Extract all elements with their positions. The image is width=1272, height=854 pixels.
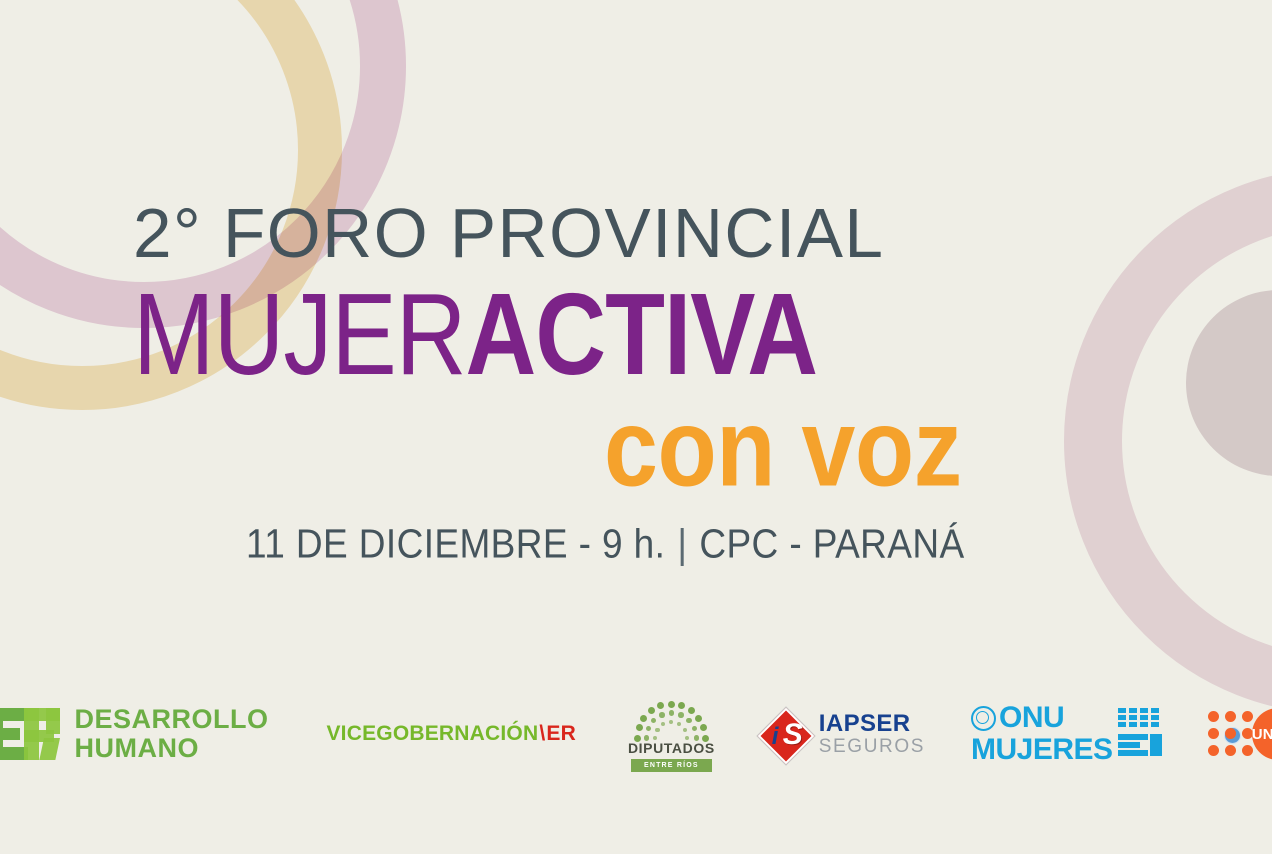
- event-poster: 2° FORO PROVINCIAL MUJERACTIVA con voz 1…: [0, 0, 1272, 854]
- decorative-ring-pink-right: [1064, 168, 1272, 714]
- event-title: MUJERACTIVA: [133, 276, 817, 392]
- event-venue: CPC - PARANÁ: [699, 521, 964, 566]
- unfpa-dot-grid-icon: [1208, 711, 1254, 757]
- iapser-mark-s: S: [783, 720, 803, 750]
- sponsor-logo-unfpa: UNFPA: [1208, 686, 1272, 782]
- iapser-subtitle: SEGUROS: [819, 737, 925, 757]
- unfpa-circle-badge: UNFPA: [1252, 708, 1272, 760]
- event-subtitle: con voz: [604, 392, 962, 503]
- vicegobernacion-suffix: ER: [546, 722, 576, 745]
- sponsor-logo-diputados: DIPUTADOS ENTRE RÍOS: [628, 686, 715, 782]
- details-separator: |: [665, 521, 699, 566]
- event-details: 11 DE DICIEMBRE - 9 h.|CPC - PARANÁ: [246, 521, 965, 567]
- iapser-logo-text: IAPSER SEGUROS: [819, 711, 925, 756]
- sponsor-logo-row: DESARROLLO HUMANO VICEGOBERNACIÓN\ER DIP…: [0, 686, 1272, 782]
- iapser-mark-i: i: [772, 725, 779, 749]
- onu-mujeres-logo-text: ONU MUJERES: [971, 703, 1113, 765]
- un-emblem-icon: [971, 706, 996, 731]
- onu-line1: ONU: [999, 703, 1064, 733]
- event-kicker: 2° FORO PROVINCIAL: [133, 198, 884, 268]
- event-date: 11 DE DICIEMBRE - 9 h.: [246, 521, 665, 566]
- iapser-diamond-icon: i S: [759, 709, 809, 759]
- onu-line2: MUJERES: [971, 735, 1113, 765]
- title-word-mujer: MUJER: [133, 269, 466, 399]
- sponsor-logo-er-desarrollo-humano: DESARROLLO HUMANO: [0, 686, 268, 782]
- sponsor-logo-vicegobernacion: VICEGOBERNACIÓN\ER: [326, 686, 575, 782]
- unfpa-name: UNFPA: [1252, 726, 1272, 743]
- diputados-subtitle: ENTRE RÍOS: [631, 759, 712, 772]
- er-logo-line2: HUMANO: [74, 734, 268, 763]
- er-logo-line1: DESARROLLO: [74, 705, 268, 734]
- diputados-name: DIPUTADOS: [628, 740, 715, 756]
- decorative-disc-mauve-right: [1186, 290, 1272, 476]
- iapser-name: IAPSER: [819, 711, 925, 736]
- sponsor-logo-onu-mujeres: ONU MUJERES: [971, 686, 1164, 782]
- vicegobernacion-logo-text: VICEGOBERNACIÓN\ER: [326, 722, 575, 746]
- er-monogram-icon: [0, 706, 62, 762]
- er-logo-text: DESARROLLO HUMANO: [74, 705, 268, 763]
- diputados-arch-icon: [628, 696, 714, 738]
- title-word-activa: ACTIVA: [466, 269, 818, 399]
- vicegobernacion-name: VICEGOBERNACIÓN: [326, 722, 538, 745]
- onu-mujeres-grid-icon: [1118, 708, 1164, 760]
- sponsor-logo-iapser: i S IAPSER SEGUROS: [759, 686, 925, 782]
